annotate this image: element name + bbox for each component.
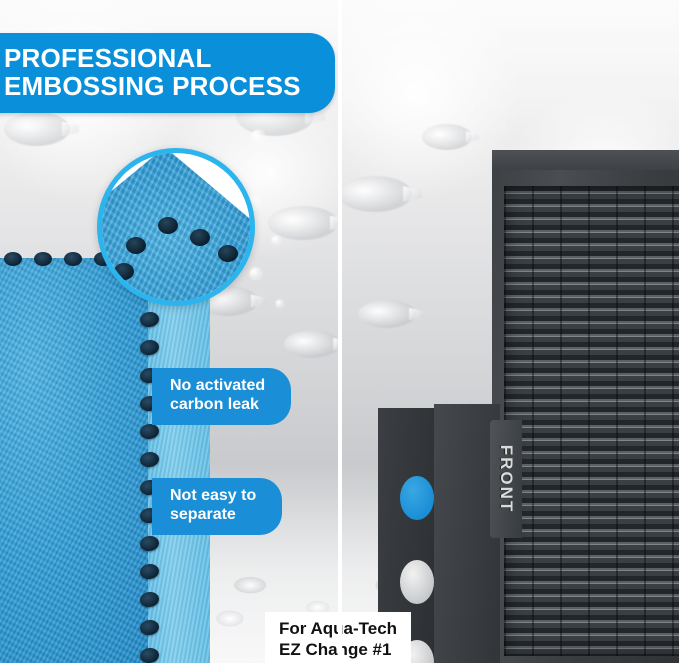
callout-not-easy-to-separate: Not easy to separate xyxy=(152,478,282,535)
emboss-dot xyxy=(218,245,238,262)
callout-no-activated-carbon-leak: No activated carbon leak xyxy=(152,368,291,425)
product-infographic: PROFESSIONAL EMBOSSING PROCESS No activa… xyxy=(0,0,679,663)
emboss-dot xyxy=(126,237,146,254)
heading-line-1: PROFESSIONAL xyxy=(4,44,301,72)
panel-divider xyxy=(338,0,342,663)
magnifier-embossed-foam xyxy=(97,148,255,306)
callout-line-2: separate xyxy=(170,506,256,525)
rail-hole xyxy=(400,560,434,604)
emboss-dot xyxy=(114,263,134,280)
callout-line-1: Not easy to xyxy=(170,487,256,506)
emboss-dot xyxy=(190,229,210,246)
callout-line-2: carbon leak xyxy=(170,396,265,415)
left-panel: PROFESSIONAL EMBOSSING PROCESS No activa… xyxy=(0,0,338,663)
callout-line-1: No activated xyxy=(170,377,265,396)
heading-line-2: EMBOSSING PROCESS xyxy=(4,72,301,100)
heading-professional-embossing: PROFESSIONAL EMBOSSING PROCESS xyxy=(0,33,335,113)
emboss-dot xyxy=(158,217,178,234)
cartridge-front-label: FRONT xyxy=(490,420,522,538)
cartridge-grid-slots xyxy=(504,186,679,656)
right-panel: FRONT GRID DESIGN Close contact Easy to … xyxy=(342,0,679,663)
rail-hole-highlighted xyxy=(400,476,434,520)
embossed-seam-side xyxy=(140,250,162,663)
